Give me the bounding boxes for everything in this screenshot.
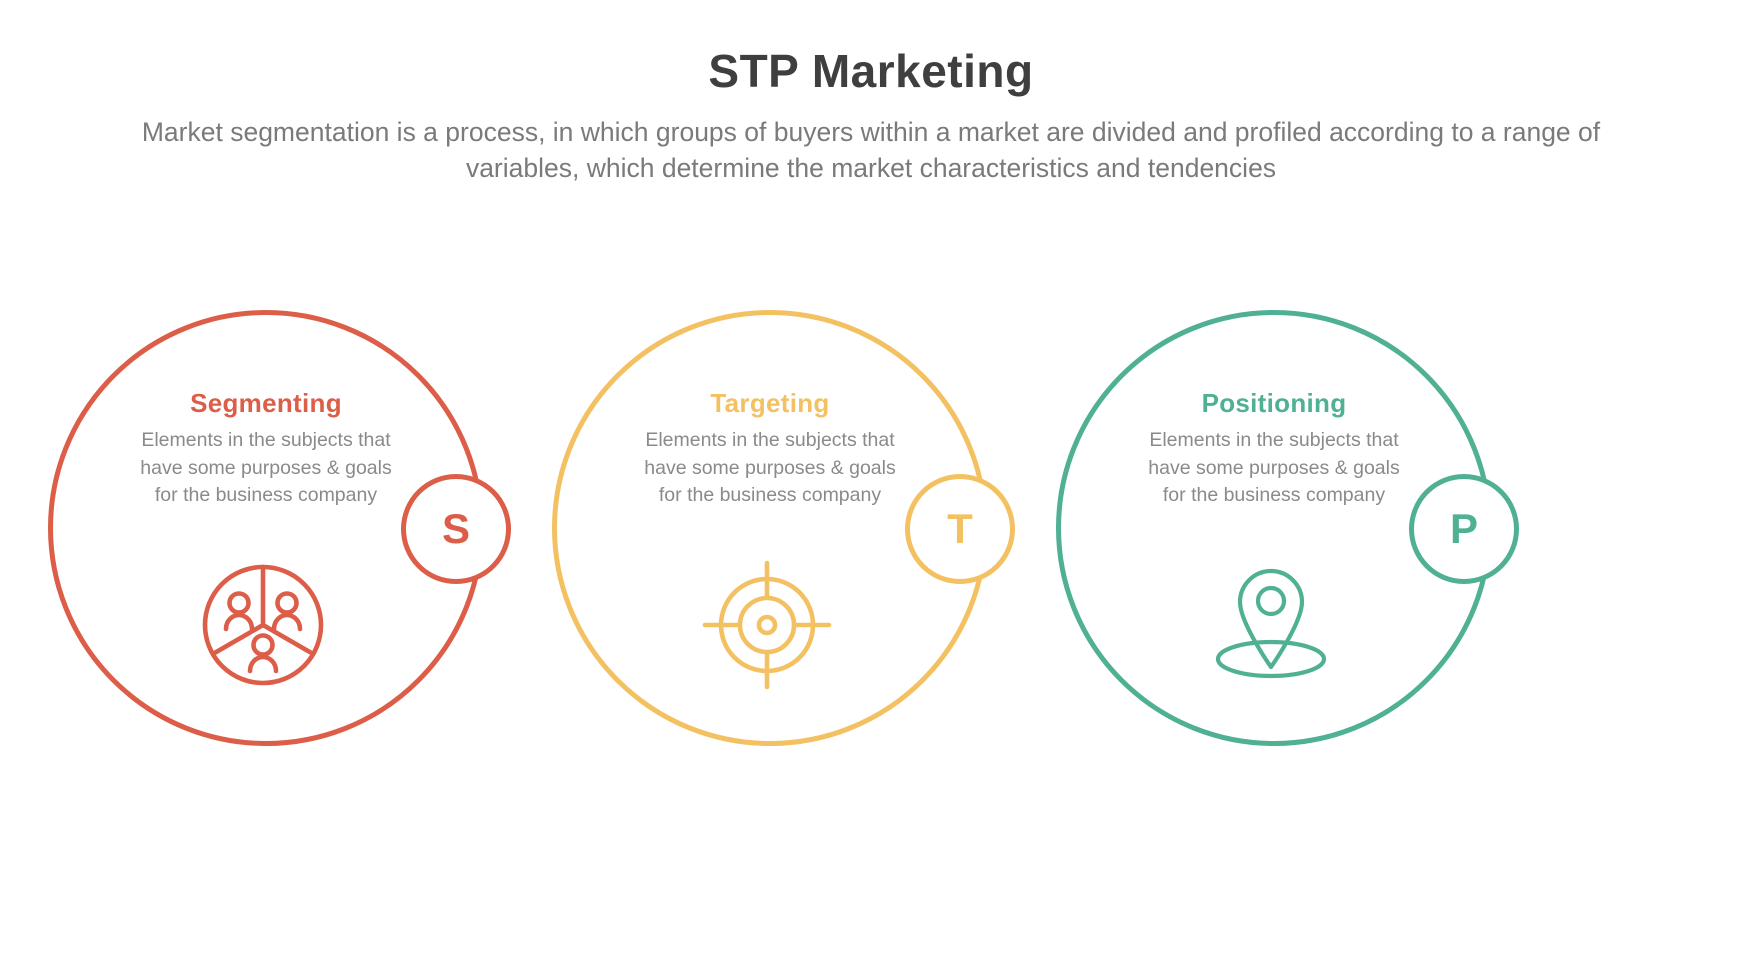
people-pie-segments-icon [188, 555, 338, 695]
card-text-block: Targeting Elements in the subjects that … [592, 388, 948, 510]
crosshair-target-icon [692, 555, 842, 695]
badge-targeting[interactable]: T [905, 474, 1015, 584]
page-subtitle: Market segmentation is a process, in whi… [131, 115, 1611, 187]
badge-segmenting[interactable]: S [401, 474, 511, 584]
card-targeting[interactable]: Targeting Elements in the subjects that … [552, 310, 1002, 760]
card-heading: Segmenting [88, 388, 444, 419]
cards-row: Segmenting Elements in the subjects that… [0, 310, 1742, 830]
card-heading: Targeting [592, 388, 948, 419]
badge-positioning[interactable]: P [1409, 474, 1519, 584]
badge-letter: P [1450, 508, 1478, 550]
card-description: Elements in the subjects that have some … [592, 427, 948, 510]
card-positioning[interactable]: Positioning Elements in the subjects tha… [1056, 310, 1506, 760]
header: STP Marketing Market segmentation is a p… [0, 44, 1742, 187]
stp-marketing-infographic: STP Marketing Market segmentation is a p… [0, 0, 1742, 980]
card-text-block: Segmenting Elements in the subjects that… [88, 388, 444, 510]
card-description: Elements in the subjects that have some … [1096, 427, 1452, 510]
card-heading: Positioning [1096, 388, 1452, 419]
card-text-block: Positioning Elements in the subjects tha… [1096, 388, 1452, 510]
location-pin-icon [1196, 555, 1346, 695]
page-title: STP Marketing [0, 44, 1742, 99]
card-description: Elements in the subjects that have some … [88, 427, 444, 510]
badge-letter: T [947, 508, 973, 550]
badge-letter: S [442, 508, 470, 550]
card-segmenting[interactable]: Segmenting Elements in the subjects that… [48, 310, 498, 760]
